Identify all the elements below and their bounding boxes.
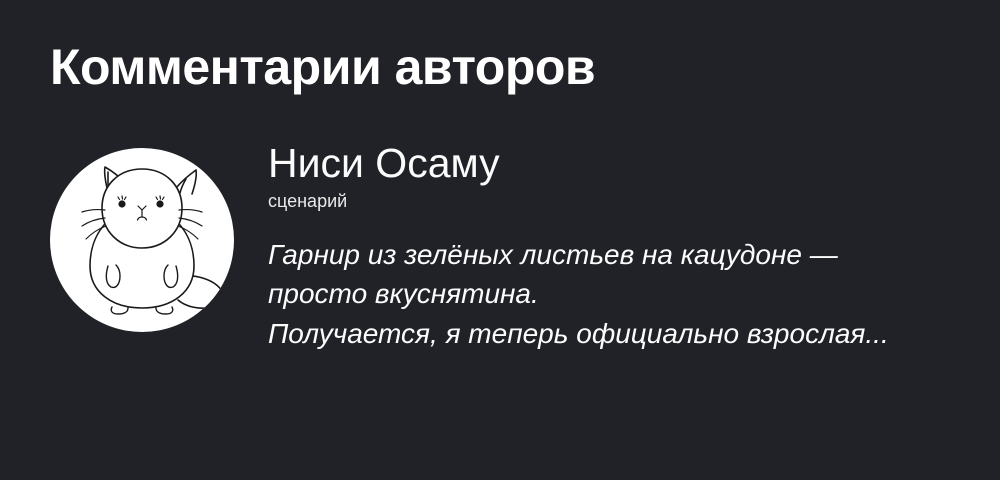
comment-line: Гарнир из зелёных листьев на кацудоне —	[268, 235, 980, 275]
author-role: сценарий	[268, 191, 980, 213]
page-title: Комментарии авторов	[50, 42, 595, 92]
comment-text: Гарнир из зелёных листьев на кацудоне — …	[268, 235, 980, 354]
cat-illustration-icon	[50, 148, 234, 332]
author-name: Ниси Осаму	[268, 142, 980, 185]
author-comments-page: Комментарии авторов	[0, 0, 1000, 480]
author-comment-entry: Ниси Осаму сценарий Гарнир из зелёных ли…	[50, 140, 980, 354]
comment-line: Получается, я теперь официально взрослая…	[268, 314, 980, 354]
comment-line: просто вкуснятина.	[268, 274, 980, 314]
avatar	[50, 148, 234, 332]
comment-body: Ниси Осаму сценарий Гарнир из зелёных ли…	[234, 140, 980, 354]
